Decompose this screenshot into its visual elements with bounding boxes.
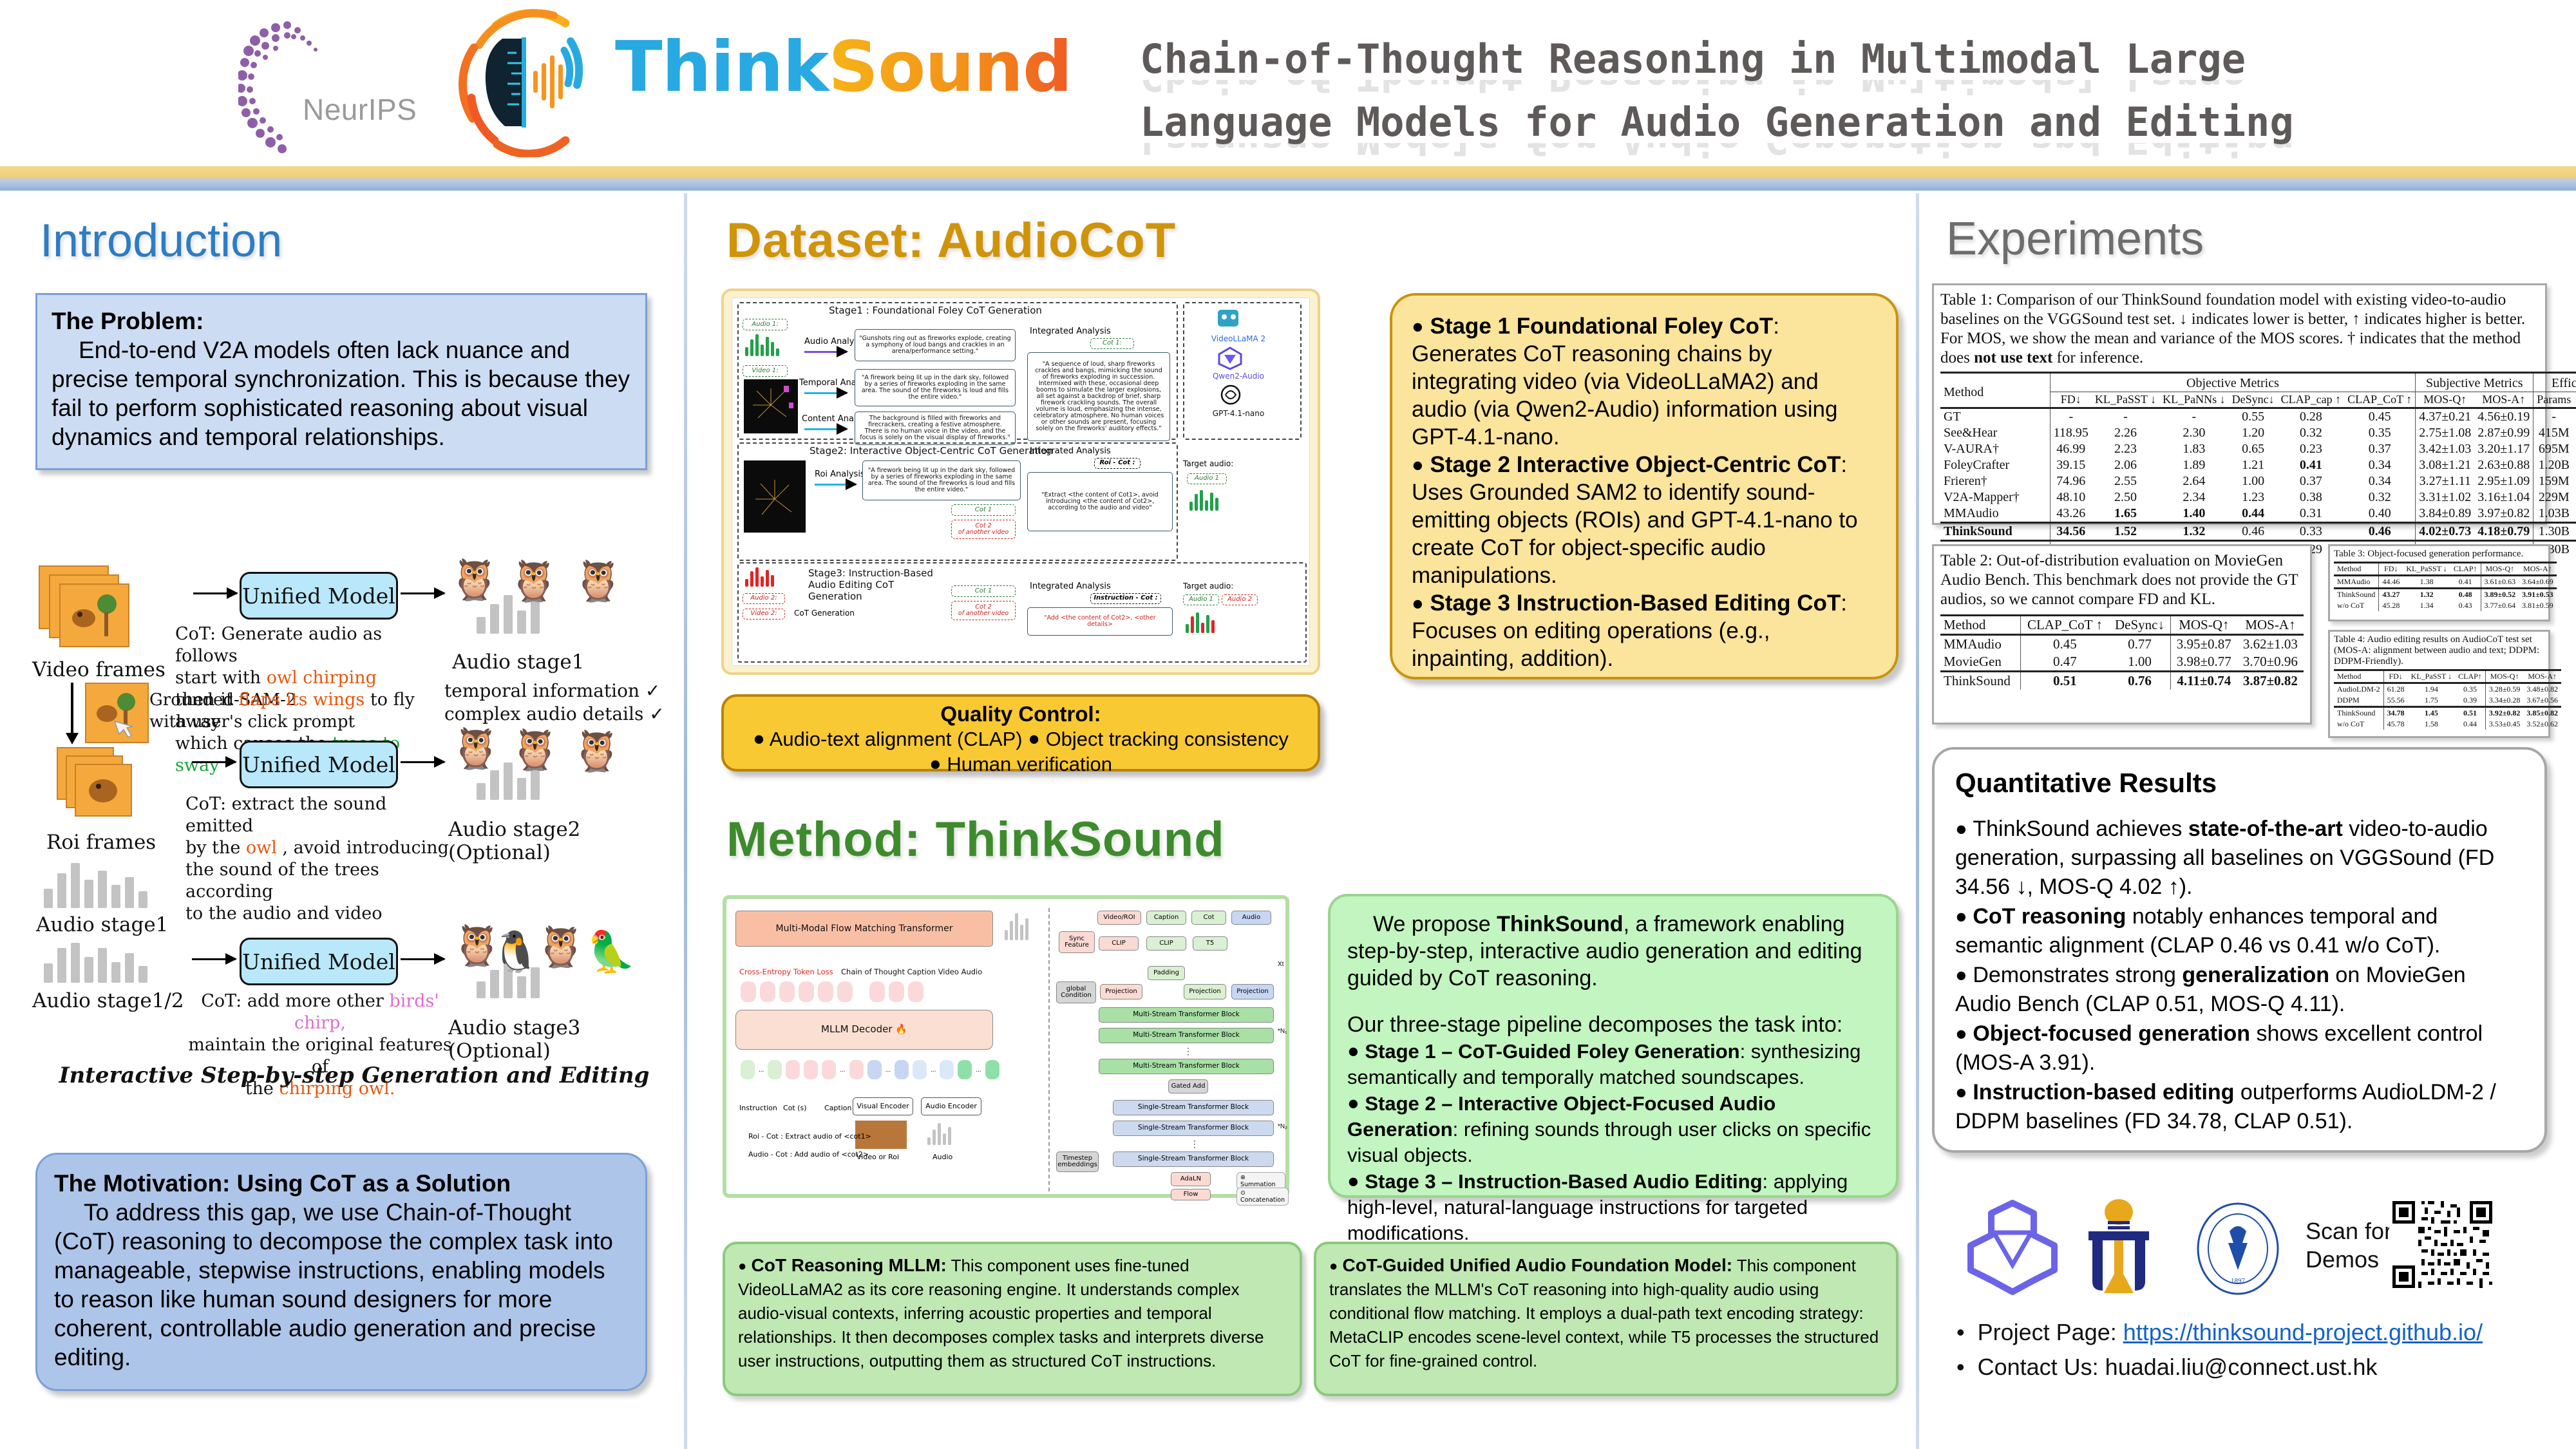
- bullet-pre: Demonstrates strong: [1973, 963, 2182, 987]
- cot2-line2a: by the: [185, 838, 246, 858]
- table-cell: 3.31±1.02: [2416, 489, 2474, 506]
- bullet-dot-icon: ●: [1955, 1081, 1973, 1103]
- owl-icon-6: 🦉: [572, 732, 621, 772]
- table-cell: 1.32: [2403, 589, 2450, 601]
- t1-col-klpasst: KL_PaSST ↓: [2092, 392, 2159, 408]
- single-stream-block-n: Single-Stream Transformer Block: [1113, 1151, 1274, 1167]
- xt-label: Xt: [1278, 961, 1283, 968]
- t2-col-clapcot: CLAP_CoT ↑: [2020, 616, 2109, 635]
- table-cell-method: MMAudio: [2334, 576, 2379, 589]
- multi-stream-ellipsis: ⋮: [1184, 1046, 1193, 1057]
- visual-encoder-box: Visual Encoder: [853, 1097, 913, 1115]
- thinksound-logo-icon: [457, 8, 605, 157]
- video1-thumbnail: [744, 379, 798, 433]
- integrated-analysis-label-3: Integrated Analysis: [1030, 582, 1111, 591]
- title-reflection-2: Language Models for Audio Generation and…: [1140, 143, 2544, 160]
- t1-col-klpanns: KL_PaNNs ↓: [2159, 392, 2229, 408]
- quantitative-bullet: ● Instruction-based editing outperforms …: [1955, 1077, 2524, 1136]
- t5-box: T5: [1193, 936, 1227, 951]
- table-cell: 3.42±1.03: [2416, 441, 2474, 457]
- table-cell: 3.61±0.63: [2481, 576, 2519, 589]
- table-cell: 4.18±0.79: [2474, 523, 2533, 541]
- table-cell: 0.43: [2450, 600, 2481, 611]
- hkust-logo-icon: [2077, 1198, 2161, 1300]
- table-cell: 3.67±0.56: [2523, 695, 2561, 707]
- table-cell: 159M: [2533, 473, 2575, 489]
- table-cell: 0.40: [2344, 506, 2416, 523]
- unified-audio-foundation-box: ● CoT-Guided Unified Audio Foundation Mo…: [1314, 1242, 1899, 1396]
- quantitative-bullet: ● ThinkSound achieves state-of-the-art v…: [1955, 814, 2524, 902]
- audio-stage12-waveform: [44, 940, 147, 983]
- t4-col-clap: CLAP↑: [2455, 670, 2485, 683]
- video-frames-stack: [39, 565, 129, 649]
- mllm-decoder-box: MLLM Decoder 🔥: [735, 1010, 993, 1050]
- brand-wordmark: ThinkSound: [615, 27, 1072, 108]
- table-cell: 44.46: [2379, 576, 2403, 589]
- table-cell: 1.03B: [2533, 506, 2575, 523]
- problem-body: End-to-end V2A models often lack nuance …: [52, 336, 631, 451]
- video-roi-input: Video/ROI: [1097, 911, 1141, 925]
- section-title-method: Method: ThinkSound: [726, 811, 1225, 867]
- temporal-analysis-text: "A firework being lit up in the dark sky…: [855, 369, 1016, 406]
- clip-box-2: CLIP: [1146, 936, 1186, 951]
- project-page-link[interactable]: https://thinksound-project.github.io/: [2123, 1319, 2483, 1345]
- padding-box: Padding: [1148, 966, 1185, 980]
- table-cell: 1.20: [2229, 425, 2278, 441]
- table-cell: 2.95±1.09: [2474, 473, 2533, 489]
- audio1-chip-s2: Audio 1: [1187, 473, 1227, 484]
- video-frames-label: Video frames: [32, 658, 166, 681]
- t3-col-kl: KL_PaSST ↓: [2403, 563, 2450, 576]
- poster-root: NeurIPS: [0, 0, 2576, 1449]
- cot-text-2: CoT: extract the sound emitted by the ow…: [185, 793, 456, 925]
- table-cell: 3.85±0.82: [2523, 707, 2561, 719]
- table-cell-method: ThinkSound: [2334, 707, 2383, 719]
- table-cell: 48.10: [2050, 489, 2092, 506]
- t1-col-desync: DeSync↓: [2229, 392, 2278, 408]
- table-cell: -: [2159, 408, 2229, 426]
- cot2-line4: to the audio and video: [185, 904, 383, 923]
- unified-model-box-3: Unified Model: [240, 938, 398, 985]
- table-cell: 0.41: [2450, 576, 2481, 589]
- gpt-label: GPT-4.1-nano: [1193, 409, 1283, 418]
- video1-tag: Video 1:: [743, 365, 788, 377]
- target-audio-label-2: Target audio:: [1183, 582, 1233, 591]
- table-cell: 1.75: [2408, 695, 2455, 707]
- table-cell: -: [2092, 408, 2159, 426]
- t1-col-clapcot: CLAP_CoT ↑: [2344, 392, 2416, 408]
- table-cell-method: FoleyCrafter: [1940, 457, 2050, 473]
- multi-stream-block-1: Multi-Stream Transformer Block: [1099, 1007, 1274, 1023]
- table-row: Frieren†74.962.552.641.000.370.343.27±1.…: [1940, 473, 2576, 489]
- table-cell-method: DDPM: [2334, 695, 2383, 707]
- bullet-dot-icon: ●: [1955, 905, 1973, 927]
- token-row-bottom: ... ... ... ... ...: [741, 1060, 999, 1079]
- bird-icon-1: 🐧: [491, 933, 540, 972]
- table3-caption: Table 3: Object-focused generation perfo…: [2334, 549, 2544, 560]
- cot2-line2c: , avoid introducing: [277, 838, 449, 858]
- table-cell: 2.30: [2159, 425, 2229, 441]
- table-cell: 0.39: [2455, 695, 2485, 707]
- stage1-title: Stage1 : Foundational Foley CoT Generati…: [829, 305, 1042, 316]
- table-cell: 3.77±0.64: [2481, 600, 2519, 611]
- multi-stream-block-2: Multi-Stream Transformer Block: [1099, 1028, 1274, 1043]
- table1-caption: Table 1: Comparison of our ThinkSound fo…: [1940, 290, 2539, 368]
- table-cell: 4.02±0.73: [2416, 523, 2474, 541]
- table-1: Table 1: Comparison of our ThinkSound fo…: [1932, 283, 2547, 525]
- table-cell: 3.81±0.59: [2519, 600, 2557, 611]
- table-cell: 0.33: [2278, 523, 2345, 541]
- instruction-cot-tag: Instruction - Cot :: [1090, 593, 1161, 604]
- t4-col-fd: FD↓: [2383, 670, 2408, 683]
- integrated-analysis-label-1: Integrated Analysis: [1030, 327, 1111, 336]
- audio1-tag: Audio 1:: [743, 319, 788, 330]
- table-row: w/o CoT45.281.340.433.77±0.643.81±0.59: [2334, 600, 2557, 611]
- table-3: Table 3: Object-focused generation perfo…: [2328, 544, 2550, 621]
- quantitative-heading: Quantitative Results: [1955, 766, 2524, 800]
- cot-input: Cot: [1191, 911, 1226, 925]
- arrow-from-model-3: [401, 958, 444, 960]
- arrow-to-model-2: [192, 761, 236, 763]
- section-title-dataset: Dataset: AudioCoT: [726, 213, 1176, 269]
- table-cell: 2.26: [2092, 425, 2159, 441]
- table-cell-method: ThinkSound: [2334, 589, 2379, 601]
- clip-box-1: CLIP: [1099, 936, 1139, 951]
- down-arrow-1: [71, 683, 73, 734]
- table-cell: 55.56: [2383, 695, 2408, 707]
- table-row: FoleyCrafter39.152.061.891.210.410.343.0…: [1940, 457, 2576, 473]
- content-analysis-text: The background is filled with fireworks …: [855, 412, 1016, 445]
- method-overview-box: We propose ThinkSound, a framework enabl…: [1328, 894, 1899, 1198]
- table-cell: 1.40: [2159, 506, 2229, 523]
- table-cell: 3.64±0.69: [2519, 576, 2557, 589]
- sync-feature-box: Sync Feature: [1059, 931, 1095, 953]
- quality-line-2: ● Human verification: [733, 752, 1309, 777]
- table-cell-method: V2A-Mapper†: [1940, 489, 2050, 506]
- table-cell: 2.87±0.99: [2474, 425, 2533, 441]
- cot2-line3: the sound of the trees according: [185, 860, 379, 902]
- table-cell-method: V-AURA†: [1940, 441, 2050, 457]
- owl-icon-5: 🦉: [510, 730, 560, 770]
- audio2-waveform: [745, 567, 774, 587]
- quantitative-bullet: ● CoT reasoning notably enhances tempora…: [1955, 902, 2524, 960]
- t1-group-objective: Objective Metrics: [2050, 373, 2416, 392]
- table-cell: 1.65: [2092, 506, 2159, 523]
- cot1-line2b: owl chirping: [267, 668, 377, 688]
- flow-box: Flow: [1171, 1189, 1211, 1200]
- cot-s-label: Cot (s): [783, 1104, 807, 1112]
- cot3-line1a: CoT: add more other: [201, 991, 389, 1011]
- table-cell: 3.70±0.96: [2237, 653, 2304, 672]
- table-cell-method: See&Hear: [1940, 425, 2050, 441]
- projection-box-3: Projection: [1231, 984, 1274, 999]
- audio-label-method: Audio: [933, 1153, 952, 1161]
- table-cell: 0.55: [2229, 408, 2278, 426]
- t2-col-method: Method: [1940, 616, 2020, 635]
- cot2-chip-s2: Cot 2 of another video: [951, 520, 1016, 539]
- audio2-chip-s3: Audio 2: [1222, 594, 1258, 605]
- bullet-dot-icon: ●: [1955, 963, 1973, 986]
- table-cell: 0.34: [2344, 457, 2416, 473]
- title-line-1: Chain-of-Thought Reasoning in Multimodal…: [1140, 39, 2544, 80]
- legend-concatenation: ⊙ Concatenation: [1236, 1188, 1289, 1206]
- table-cell: 4.37±0.21: [2416, 408, 2474, 426]
- table-cell: 0.41: [2278, 457, 2345, 473]
- pipeline-intro: Our three-stage pipeline decomposes the …: [1347, 1011, 1879, 1038]
- table-cell: 3.87±0.82: [2237, 672, 2304, 690]
- audio-analysis-text: "Gunshots ring out as fireworks explode,…: [855, 329, 1016, 361]
- instruction-cot-text: "Add <the content of Cot2>, <other detai…: [1027, 607, 1173, 636]
- table-cell: 0.47: [2020, 653, 2109, 672]
- scan-label: Scan for Demos: [2306, 1217, 2392, 1274]
- cot-generation-label: CoT Generation: [794, 609, 855, 618]
- caption-input: Caption: [1146, 911, 1186, 925]
- svg-text:1897: 1897: [2231, 1277, 2246, 1285]
- table-cell-method: ThinkSound: [1940, 523, 2050, 541]
- target-waveform-1: [1189, 490, 1218, 511]
- click-prompt-frame: [85, 683, 149, 743]
- roi-analysis-text: "A firework being lit up in the dark sky…: [862, 460, 1021, 500]
- contact-line: • Contact Us: huadai.liu@connect.ust.hk: [1956, 1350, 2483, 1385]
- bullet-dot-icon: ●: [1955, 1022, 1973, 1045]
- table-cell: 45.78: [2383, 719, 2408, 730]
- table-cell: 3.97±0.82: [2474, 506, 2533, 523]
- arrow-from-model-1: [401, 592, 444, 594]
- table-row: ThinkSound0.510.764.11±0.743.87±0.82: [1940, 672, 2304, 690]
- title-reflection-1: Chain-of-Thought Reasoning in Multimodal…: [1140, 80, 2544, 97]
- quality-heading: Quality Control:: [733, 702, 1309, 726]
- table-2: Table 2: Out-of-distribution evaluation …: [1932, 544, 2312, 724]
- table-cell: 0.44: [2229, 506, 2278, 523]
- header-accent-band: [0, 166, 2576, 191]
- table-cell: 229M: [2533, 489, 2575, 506]
- qr-code-icon[interactable]: [2389, 1198, 2495, 1291]
- cot1-text: "A sequence of loud, sharp fireworks cra…: [1027, 352, 1170, 441]
- table-cell: 118.95: [2050, 425, 2092, 441]
- owl-icon-2: 🦉: [509, 562, 558, 601]
- stage3-title: Stage3: Instruction-Based Audio Editing …: [808, 567, 937, 602]
- table-cell: 3.84±0.89: [2416, 506, 2474, 523]
- n1-label: *N₁: [1278, 1028, 1287, 1035]
- table-cell: 1.34: [2403, 600, 2450, 611]
- t1-col-params: Params: [2533, 392, 2575, 408]
- table-cell-method: MovieGen: [1940, 653, 2020, 672]
- table-cell: 0.35: [2455, 683, 2485, 696]
- table-cell: 2.55: [2092, 473, 2159, 489]
- table-cell: 0.35: [2344, 425, 2416, 441]
- audio-stage1-label: Audio stage1: [36, 913, 168, 936]
- t3-col-method: Method: [2334, 563, 2379, 576]
- table-cell: 45.28: [2379, 600, 2403, 611]
- table-cell: 1.83: [2159, 441, 2229, 457]
- table-cell: 2.23: [2092, 441, 2159, 457]
- table-cell: 1.30B: [2533, 523, 2575, 541]
- audio-cot-note: Audio - Cot : Add audio of <cot2>: [748, 1150, 869, 1159]
- roi-cot-note: Roi - Cot : Extract audio of <cot1>: [748, 1132, 871, 1141]
- table-row: MMAudio43.261.651.400.440.310.403.84±0.8…: [1940, 506, 2576, 523]
- table-cell: 1.23: [2229, 489, 2278, 506]
- qwen-label: Qwen2-Audio: [1193, 372, 1283, 381]
- t3-col-clap: CLAP↑: [2450, 563, 2481, 576]
- table-cell: 0.23: [2278, 441, 2345, 457]
- neurips-dots-icon: [238, 16, 354, 155]
- temporal-analysis-arrow: [804, 392, 847, 394]
- gpt-icon: [1219, 383, 1242, 406]
- table-cell: 3.98±0.77: [2170, 653, 2237, 672]
- projection-box-1: Projection: [1100, 984, 1142, 999]
- table-row: MMAudio44.461.380.413.61±0.633.64±0.69: [2334, 576, 2557, 589]
- audio-input-waveform: [927, 1123, 951, 1145]
- gated-add-box: Gated Add: [1168, 1079, 1208, 1094]
- audio-stage1-output-label: Audio stage1: [452, 650, 584, 674]
- quantitative-results-box: Quantitative Results ● ThinkSound achiev…: [1932, 747, 2547, 1153]
- table-cell: 1.21: [2229, 457, 2278, 473]
- content-analysis-arrow: [804, 428, 847, 430]
- table-cell: 695M: [2533, 441, 2575, 457]
- cot2-line1: CoT: extract the sound emitted: [185, 794, 386, 836]
- table-cell: 1.38: [2403, 576, 2450, 589]
- cot1-line3a: then it: [175, 690, 238, 710]
- table-cell: 1.52: [2092, 523, 2159, 541]
- unified-model-box-1: Unified Model: [240, 572, 398, 620]
- table-cell: 2.50: [2092, 489, 2159, 506]
- cot1-chip-s2: Cot 1: [951, 504, 1016, 516]
- table-cell-method: GT: [1940, 408, 2050, 426]
- t2-col-mosa: MOS-A↑: [2237, 616, 2304, 635]
- table-cell: 0.51: [2455, 707, 2485, 719]
- table-row: AudioLDM-261.281.940.353.28±0.593.48±0.8…: [2334, 683, 2561, 696]
- target-waveform-2: [1186, 612, 1215, 633]
- table-cell: 3.52±0.62: [2523, 719, 2561, 730]
- table-cell: 3.62±1.03: [2237, 635, 2304, 654]
- table-cell: 0.37: [2344, 441, 2416, 457]
- table-cell: 0.31: [2278, 506, 2345, 523]
- n2-label: *N₂: [1278, 1123, 1287, 1130]
- table-cell: 1.89: [2159, 457, 2229, 473]
- audiocot-diagram: Stage1 : Foundational Foley CoT Generati…: [721, 289, 1320, 675]
- table-cell: 3.92±0.82: [2485, 707, 2523, 719]
- bullet-bold: state-of-the-art: [2188, 817, 2343, 841]
- audio-stage2-output-label: Audio stage2 (Optional): [448, 818, 676, 864]
- table-cell: 43.26: [2050, 506, 2092, 523]
- table-cell: 1.94: [2408, 683, 2455, 696]
- roi-thumbnail: [744, 460, 806, 533]
- table-cell: 2.63±0.88: [2474, 457, 2533, 473]
- videollama-label: VideoLLaMA 2: [1193, 334, 1283, 343]
- table-cell: 0.28: [2278, 408, 2345, 426]
- method-stage-2: ● Stage 2 – Interactive Object-Focused A…: [1347, 1090, 1879, 1168]
- parrot-icon: 🦜: [586, 933, 636, 972]
- owl-icon-1: 🦉: [450, 560, 499, 600]
- table-cell: 1.32: [2159, 523, 2229, 541]
- cot1-tag: Cot 1:: [1090, 338, 1134, 349]
- roi-cot-text: "Extract <the content of Cot1>, avoid in…: [1027, 472, 1173, 531]
- t1-col-method: Method: [1940, 373, 2050, 408]
- caption-label-left: Caption: [824, 1104, 851, 1112]
- neurips-logo: NeurIPS: [238, 16, 406, 155]
- single-stream-ellipsis: ⋮: [1190, 1139, 1199, 1150]
- check-complex: complex audio details ✓: [444, 703, 665, 724]
- table-row: See&Hear118.952.262.301.200.320.352.75±1…: [1940, 425, 2576, 441]
- table-cell: 3.48±0.82: [2523, 683, 2561, 696]
- dataset-stages-box: ● Stage 1 Foundational Foley CoT: Genera…: [1390, 293, 1899, 679]
- bullet-bold: Instruction-based editing: [1973, 1080, 2234, 1104]
- title-line-2: Language Models for Audio Generation and…: [1140, 102, 2544, 143]
- cot1-line2a: start with: [175, 668, 267, 688]
- t4-col-kl: KL_PaSST ↓: [2408, 670, 2455, 683]
- figure-caption: Interactive Step-by-step Generation and …: [32, 1063, 676, 1088]
- t1-group-efficiency: Efficiency: [2533, 373, 2576, 392]
- table1-grid: Method Objective Metrics Subjective Metr…: [1940, 372, 2576, 558]
- table-cell: 3.08±1.21: [2416, 457, 2474, 473]
- table3-grid: Method FD↓ KL_PaSST ↓ CLAP↑ MOS-Q↑ MOS-A…: [2334, 562, 2557, 611]
- table-row: MovieGen0.471.003.98±0.773.70±0.96: [1940, 653, 2304, 672]
- table-cell: 3.89±0.52: [2481, 589, 2519, 601]
- t1-col-fd: FD↓: [2050, 392, 2092, 408]
- table-cell: 0.51: [2020, 672, 2109, 690]
- timestep-embeddings-box: Timestep embeddings: [1056, 1151, 1099, 1172]
- cot2-chip-s3: Cot 2 of another video: [951, 601, 1016, 620]
- table4-grid: Method FD↓ KL_PaSST ↓ CLAP↑ MOS-Q↑ MOS-A…: [2334, 669, 2561, 730]
- bullet-bold: generalization: [2182, 963, 2329, 987]
- column-divider-2: [1916, 193, 1919, 1449]
- section-title-introduction: Introduction: [40, 214, 282, 267]
- instruction-label: Instruction: [739, 1104, 777, 1112]
- table-cell: 3.28±0.59: [2485, 683, 2523, 696]
- neurips-label: NeurIPS: [303, 92, 417, 127]
- bullet-pre: ThinkSound achieves: [1973, 817, 2188, 841]
- adaln-box: AdaLN: [1171, 1172, 1211, 1186]
- table-cell: 46.99: [2050, 441, 2092, 457]
- cot1-chip-s3: Cot 1: [951, 585, 1016, 597]
- interactive-pipeline-figure: Video frames Grounded-SAM-2 with user's …: [32, 554, 676, 1114]
- multi-stream-block-n: Multi-Stream Transformer Block: [1099, 1059, 1274, 1074]
- videollama-icon: [1210, 306, 1246, 333]
- table2-caption: Table 2: Out-of-distribution evaluation …: [1940, 551, 2304, 609]
- method-output-waveform: [1005, 913, 1028, 940]
- audio-input: Audio: [1231, 911, 1271, 925]
- table-cell-method: AudioLDM-2: [2334, 683, 2383, 696]
- arrow-from-model-2: [401, 761, 444, 763]
- experiments-footer: 1897 Scan for Demos: [1945, 1198, 2550, 1410]
- table-row: ThinkSound34.561.521.320.460.330.464.02±…: [1940, 523, 2576, 541]
- table-cell: 1.20B: [2533, 457, 2575, 473]
- table-cell: 39.15: [2050, 457, 2092, 473]
- table-cell: 3.16±1.04: [2474, 489, 2533, 506]
- table-cell: 0.44: [2455, 719, 2485, 730]
- table-cell: 0.45: [2344, 408, 2416, 426]
- audio-stage12-label: Audio stage1/2: [32, 989, 184, 1012]
- table-cell: 0.32: [2278, 425, 2345, 441]
- owl-icon-3: 🦉: [573, 562, 623, 601]
- dataset-stage-3: ● Stage 3 Instruction-Based Editing CoT:…: [1412, 589, 1877, 672]
- table-row: MMAudio0.450.773.95±0.873.62±1.03: [1940, 635, 2304, 654]
- cross-entropy-loss-label: Cross-Entropy Token Loss: [739, 967, 833, 976]
- bullet-bold: Object-focused generation: [1973, 1021, 2250, 1046]
- table-cell: 1.58: [2408, 719, 2455, 730]
- table-row: ThinkSound34.781.450.513.92±0.823.85±0.8…: [2334, 707, 2561, 719]
- table-cell-method: MMAudio: [1940, 635, 2020, 654]
- brand-sound: Sound: [828, 27, 1072, 108]
- t4-col-mosa: MOS-A↑: [2523, 670, 2561, 683]
- table-cell: 4.11±0.74: [2170, 672, 2237, 690]
- single-stream-block-1: Single-Stream Transformer Block: [1113, 1100, 1274, 1115]
- qwen-icon: [1217, 346, 1244, 370]
- method-lead: We propose ThinkSound, a framework enabl…: [1347, 911, 1879, 992]
- check-temporal: temporal information ✓: [444, 680, 660, 701]
- roi-analysis-arrow: [815, 484, 856, 486]
- table-cell: 34.56: [2050, 523, 2092, 541]
